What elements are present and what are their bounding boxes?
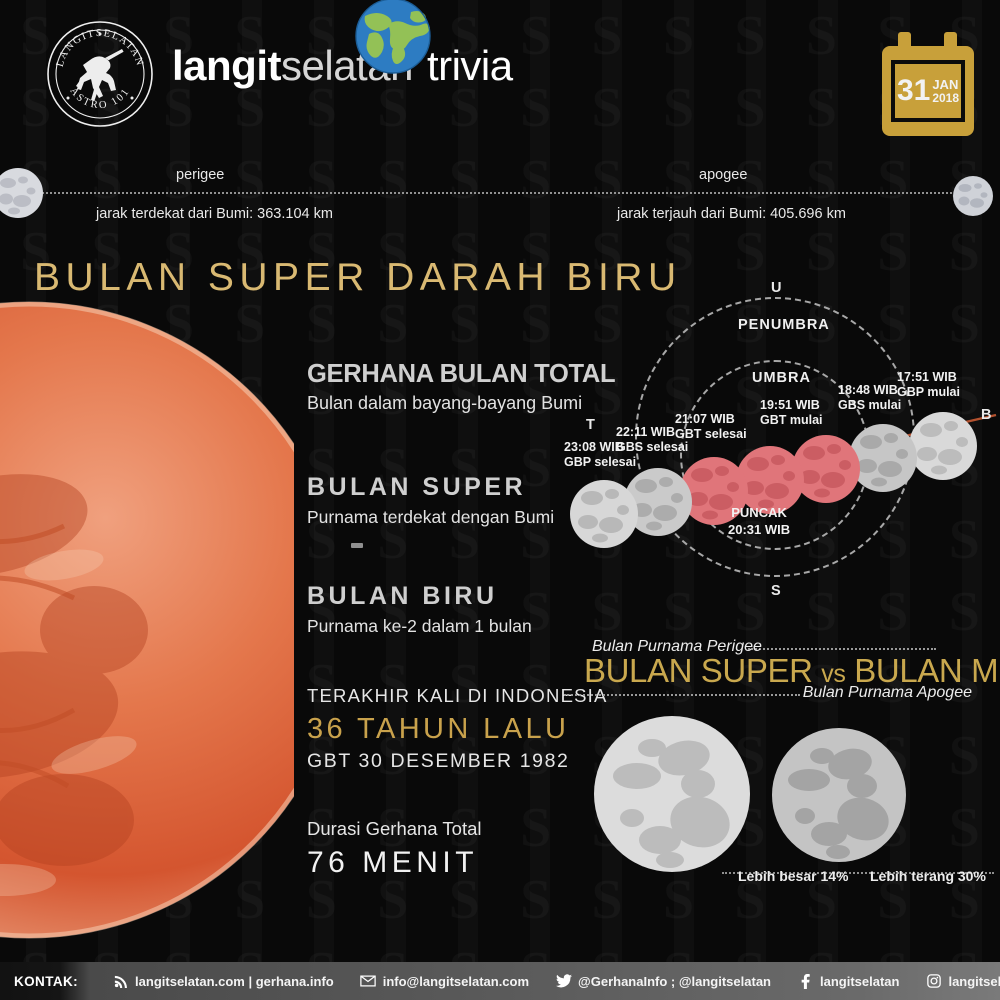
footer-item-website[interactable]: langitselatan.com | gerhana.info xyxy=(112,974,334,989)
calendar-month: JAN xyxy=(932,78,959,92)
feature-item-bulan-biru: BULAN BIRU Purnama ke-2 dalam 1 bulan xyxy=(307,582,597,637)
distance-band: perigee apogee jarak terdekat dari Bumi:… xyxy=(0,150,1000,242)
penumbra-label: PENUMBRA xyxy=(738,317,830,333)
phase-caption-1751: 17:51 WIB GBP mulai xyxy=(897,370,960,401)
phase-caption-2308: 23:08 WIB GBP selesai xyxy=(564,440,636,471)
instagram-icon xyxy=(925,974,942,989)
comparison-note-bigger: Lebih besar 14% xyxy=(738,868,849,884)
phase-time: 17:51 WIB xyxy=(897,370,957,384)
duration-block: Durasi Gerhana Total 76 MENIT xyxy=(307,818,481,880)
phase-caption-1951: 19:51 WIB GBT mulai xyxy=(760,398,823,429)
peak-caption: PUNCAK 20:31 WIB xyxy=(728,505,790,539)
feature-subtext: Purnama ke-2 dalam 1 bulan xyxy=(307,616,597,637)
footer-item-twitter[interactable]: @GerhanaInfo ; @langitselatan xyxy=(555,974,771,989)
phase-event: GBP mulai xyxy=(897,385,960,399)
phase-time: 23:08 WIB xyxy=(564,440,624,454)
footer-contact-bar: KONTAK: langitselatan.com | gerhana.info… xyxy=(0,962,1000,1000)
duration-value: 76 MENIT xyxy=(307,846,481,880)
brand-title: langitselatantrivia xyxy=(172,42,513,90)
direction-letter-up: U xyxy=(771,280,781,296)
comparison-title-left: BULAN SUPER xyxy=(584,652,813,689)
decorative-dash xyxy=(351,543,363,548)
apogee-label: apogee xyxy=(699,167,747,183)
brand-bold: langit xyxy=(172,42,281,89)
perigee-full-moon-icon xyxy=(0,167,48,223)
comparison-top-leader-line xyxy=(748,648,936,650)
direction-letter-left: T xyxy=(586,417,595,433)
apogee-full-moon-icon xyxy=(951,174,995,218)
phase-time: 21:07 WIB xyxy=(675,412,735,426)
calendar-inner: 31 JAN 2018 xyxy=(891,60,965,122)
calendar-year: 2018 xyxy=(932,92,959,105)
phase-moon-2308 xyxy=(568,478,640,550)
perigee-distance-text: jarak terdekat dari Bumi: 363.104 km xyxy=(96,206,333,222)
footer-website-text: langitselatan.com | gerhana.info xyxy=(135,974,334,989)
phase-event: GBT mulai xyxy=(760,413,823,427)
phase-moon-1751 xyxy=(907,410,979,482)
feature-subtext: Purnama terdekat dengan Bumi xyxy=(307,507,597,528)
phase-time: 19:51 WIB xyxy=(760,398,820,412)
supermoon-icon xyxy=(592,714,752,874)
envelope-icon xyxy=(360,974,377,989)
calendar-date-field: 31 JAN 2018 xyxy=(895,64,961,118)
phase-time: 22:11 WIB xyxy=(616,425,675,439)
peak-time: 20:31 WIB xyxy=(728,522,790,537)
footer-twitter-text: @GerhanaInfo ; @langitselatan xyxy=(578,974,771,989)
footer-facebook-text: langitselatan xyxy=(820,974,899,989)
eclipse-path-diagram: U S T B PENUMBRA UMBRA xyxy=(560,270,1000,610)
feature-heading: BULAN SUPER xyxy=(307,473,597,502)
footer-item-instagram[interactable]: langitselatanmedia xyxy=(925,974,1000,989)
footer-instagram-text: langitselatanmedia xyxy=(948,974,1000,989)
langitselatan-astro101-seal-icon[interactable]: LANGITSELATAN ASTRO 101 xyxy=(46,20,154,128)
feature-subtext: Bulan dalam bayang-bayang Bumi xyxy=(307,393,597,414)
rss-icon xyxy=(112,974,129,989)
perigee-label: perigee xyxy=(176,167,224,183)
apogee-distance-text: jarak terjauh dari Bumi: 405.696 km xyxy=(617,206,846,222)
footer-item-email[interactable]: info@langitselatan.com xyxy=(360,974,529,989)
feature-item-bulan-super: BULAN SUPER Purnama terdekat dengan Bumi xyxy=(307,473,597,528)
earth-globe-icon xyxy=(355,0,431,74)
direction-letter-down: S xyxy=(771,583,781,599)
twitter-icon xyxy=(555,974,572,989)
direction-letter-right: B xyxy=(981,407,991,423)
comparison-note-brighter: Lebih terang 30% xyxy=(870,868,986,884)
duration-label: Durasi Gerhana Total xyxy=(307,818,481,840)
distance-axis-line xyxy=(34,192,960,194)
comparison-bottom-leader-line xyxy=(564,694,800,696)
blood-moon-image xyxy=(0,300,294,940)
infographic-canvas: SSSSSSSSSSSSSSSSSSSSSSSSSSSSSSSSSSSSSSSS… xyxy=(0,0,1000,1000)
footer-kontak-label: KONTAK: xyxy=(14,974,78,989)
facebook-icon xyxy=(797,974,814,989)
peak-label: PUNCAK xyxy=(731,505,787,520)
header: LANGITSELATAN ASTRO 101 langitselatantri… xyxy=(0,0,1000,150)
calendar-icon: 31 JAN 2018 xyxy=(882,32,974,136)
feature-item-gerhana-bulan-total: GERHANA BULAN TOTAL Bulan dalam bayang-b… xyxy=(307,360,597,414)
calendar-day: 31 xyxy=(897,76,930,106)
logo-centaur-figure xyxy=(76,49,124,101)
calendar-month-year: JAN 2018 xyxy=(932,78,959,104)
feature-heading: BULAN BIRU xyxy=(307,582,597,611)
minimoon-icon xyxy=(770,726,908,864)
supermoon-vs-minimoon-comparison: Bulan Purnama Perigee BULAN SUPER vs BUL… xyxy=(560,630,1000,900)
feature-heading: GERHANA BULAN TOTAL xyxy=(307,360,597,389)
footer-item-facebook[interactable]: langitselatan xyxy=(797,974,899,989)
comparison-apogee-label: Bulan Purnama Apogee xyxy=(803,684,972,702)
phase-caption-1848: 18:48 WIB GBS mulai xyxy=(838,383,901,414)
brand-tail: trivia xyxy=(427,42,513,89)
umbra-label: UMBRA xyxy=(752,370,811,386)
calendar-body: 31 JAN 2018 xyxy=(882,46,974,136)
footer-email-text: info@langitselatan.com xyxy=(383,974,529,989)
phase-event: GBP selesai xyxy=(564,455,636,469)
phase-event: GBS mulai xyxy=(838,398,901,412)
phase-time: 18:48 WIB xyxy=(838,383,898,397)
